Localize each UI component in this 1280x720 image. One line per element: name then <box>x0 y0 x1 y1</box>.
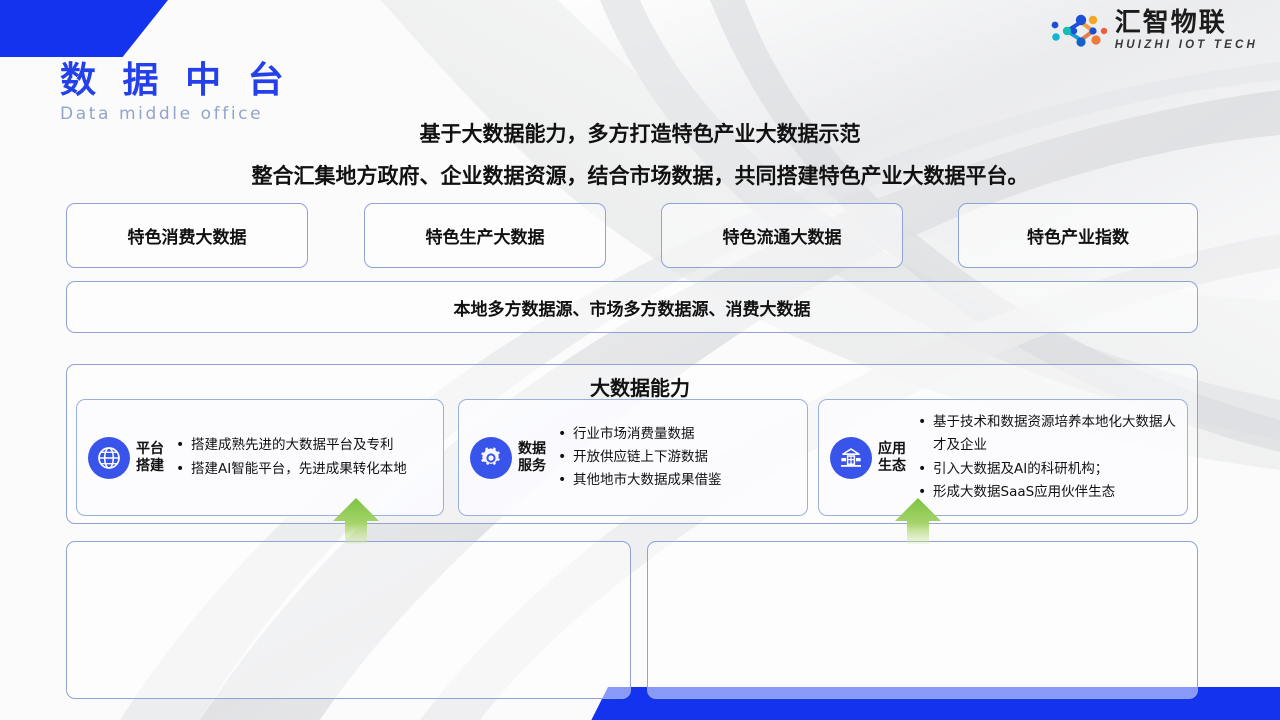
molecule-network-icon <box>1051 11 1107 51</box>
category-box-2[interactable]: 特色生产大数据 <box>364 203 606 268</box>
capability-card-dataservice[interactable]: 数据 服务 行业市场消费量数据 开放供应链上下游数据 其他地市大数据成果借鉴 <box>458 399 808 516</box>
capability-card-platform[interactable]: 平台 搭建 搭建成熟先进的大数据平台及专利 搭建AI智能平台，先进成果转化本地 <box>76 399 444 516</box>
list-item: 引入大数据及AI的科研机构； <box>916 458 1187 481</box>
capability-card-platform-label: 平台 搭建 <box>136 441 164 473</box>
capability-card-platform-label-line2: 搭建 <box>136 458 164 474</box>
category-box-1[interactable]: 特色消费大数据 <box>66 203 308 268</box>
list-item: 搭建AI智能平台，先进成果转化本地 <box>174 458 443 481</box>
capability-card-ecosystem-label-line1: 应用 <box>878 441 906 457</box>
headline-secondary: 整合汇集地方政府、企业数据资源，结合市场数据，共同搭建特色产业大数据平台。 <box>0 160 1280 190</box>
capability-card-platform-label-line1: 平台 <box>136 441 164 457</box>
list-item: 开放供应链上下游数据 <box>556 446 807 469</box>
capability-card-platform-bullets: 搭建成熟先进的大数据平台及专利 搭建AI智能平台，先进成果转化本地 <box>174 434 443 480</box>
capability-card-dataservice-label-line1: 数据 <box>518 441 546 457</box>
capability-card-ecosystem-icon-group: 应用 生态 <box>819 437 906 479</box>
category-box-3[interactable]: 特色流通大数据 <box>661 203 903 268</box>
capability-panel-title: 大数据能力 <box>0 372 1280 401</box>
capability-card-dataservice-icon-group: 数据 服务 <box>459 437 546 479</box>
list-item: 基于技术和数据资源培养本地化大数据人才及企业 <box>916 411 1187 457</box>
capability-card-ecosystem[interactable]: 应用 生态 基于技术和数据资源培养本地化大数据人才及企业 引入大数据及AI的科研… <box>818 399 1188 516</box>
category-box-4[interactable]: 特色产业指数 <box>958 203 1198 268</box>
headline-primary: 基于大数据能力，多方打造特色产业大数据示范 <box>0 118 1280 148</box>
capability-card-dataservice-bullets: 行业市场消费量数据 开放供应链上下游数据 其他地市大数据成果借鉴 <box>556 423 807 493</box>
list-item: 其他地市大数据成果借鉴 <box>556 469 807 492</box>
capability-card-ecosystem-bullets: 基于技术和数据资源培养本地化大数据人才及企业 引入大数据及AI的科研机构； 形成… <box>916 411 1187 504</box>
page-title-cn: 数 据 中 台 <box>60 62 291 100</box>
green-up-arrow-right <box>892 497 944 545</box>
capability-card-ecosystem-label: 应用 生态 <box>878 441 906 473</box>
capability-card-dataservice-label-line2: 服务 <box>518 458 546 474</box>
platform-panel-bigdata: 大数据平台 数据采集 <box>66 541 631 699</box>
data-source-bar[interactable]: 本地多方数据源、市场多方数据源、消费大数据 <box>66 281 1198 333</box>
capability-card-platform-icon-group: 平台 搭建 <box>77 437 164 479</box>
logo-company-name-cn: 汇智物联 <box>1115 10 1258 36</box>
bank-building-icon <box>830 437 872 479</box>
platform-panel-ai: AI服务平台 AI AI学习 <box>647 541 1198 699</box>
list-item: 形成大数据SaaS应用伙伴生态 <box>916 481 1187 504</box>
list-item: 搭建成熟先进的大数据平台及专利 <box>174 434 443 457</box>
gear-icon <box>470 437 512 479</box>
globe-icon <box>88 437 130 479</box>
logo-company-name-en: HUIZHI IOT TECH <box>1115 40 1258 52</box>
page-title: 数 据 中 台 Data middle office <box>60 62 291 124</box>
brand-logo: 汇智物联 HUIZHI IOT TECH <box>1051 10 1258 52</box>
capability-card-ecosystem-label-line2: 生态 <box>878 458 906 474</box>
green-up-arrow-left <box>330 497 382 545</box>
capability-card-dataservice-label: 数据 服务 <box>518 441 546 473</box>
list-item: 行业市场消费量数据 <box>556 423 807 446</box>
